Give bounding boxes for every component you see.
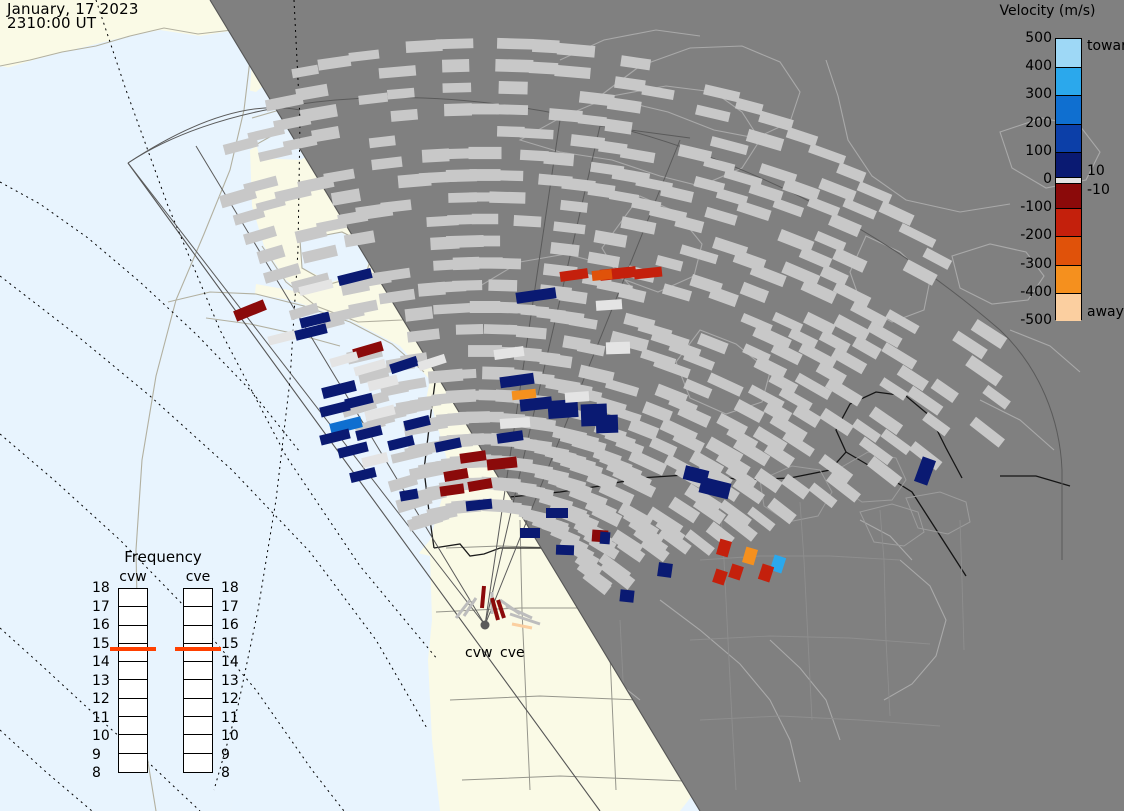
frequency-marker-cve — [175, 647, 221, 651]
colorbar-tick-label: 400 — [992, 58, 1052, 74]
frequency-scale-box — [183, 588, 213, 773]
ground-scatter-cell — [513, 215, 541, 227]
velocity-cell — [592, 269, 613, 281]
frequency-tick-label: 18 — [221, 580, 239, 596]
velocity-cell — [565, 391, 590, 403]
frequency-column-label: cve — [174, 569, 222, 585]
frequency-scale-tick-row — [119, 717, 147, 735]
ground-scatter-cell — [468, 147, 501, 159]
velocity-cell — [619, 589, 634, 602]
ground-scatter-cell — [497, 38, 534, 50]
ground-scatter-cell — [436, 38, 474, 49]
colorbar-segment — [1056, 236, 1081, 264]
frequency-scale-box — [118, 588, 148, 773]
ground-scatter-cell — [495, 59, 533, 73]
colorbar-tick-label: -400 — [992, 284, 1052, 300]
colorbar-tick-label: 200 — [992, 115, 1052, 131]
velocity-cell — [556, 545, 574, 556]
frequency-tick-label: 9 — [221, 747, 230, 763]
frequency-tick-label: 12 — [92, 691, 110, 707]
frequency-tick-label: 8 — [92, 765, 101, 781]
radar-site-label-cve: cve — [500, 645, 525, 661]
frequency-marker-cvw — [110, 647, 156, 651]
frequency-scale-tick-row — [184, 680, 212, 698]
ground-scatter-cell — [444, 103, 472, 116]
radar-site-label-cvw: cvw — [465, 645, 492, 661]
frequency-tick-label: 9 — [92, 747, 101, 763]
frequency-tick-label: 18 — [92, 580, 110, 596]
velocity-cell — [520, 528, 540, 538]
frequency-scale-tick-row — [184, 626, 212, 644]
frequency-tick-label: 15 — [221, 636, 239, 652]
frequency-scale-tick-row — [119, 680, 147, 698]
frequency-scale-tick-row — [119, 699, 147, 717]
ground-scatter-cell — [532, 39, 560, 53]
colorbar-neg-threshold-label: -10 — [1087, 182, 1110, 198]
frequency-scale-tick-row — [184, 735, 212, 753]
frequency-tick-label: 10 — [92, 728, 110, 744]
colorbar-segment — [1056, 293, 1081, 321]
colorbar-segment — [1056, 67, 1081, 95]
colorbar-tick-label: 100 — [992, 143, 1052, 159]
frequency-tick-label: 16 — [221, 617, 239, 633]
frequency-scale-tick-row — [119, 589, 147, 607]
ground-scatter-cell — [456, 324, 483, 335]
colorbar-tick-label: -100 — [992, 199, 1052, 215]
frequency-tick-label: 10 — [221, 728, 239, 744]
frequency-scale-tick-row — [119, 754, 147, 772]
colorbar-toward-label: toward — [1087, 38, 1124, 54]
radar-map-plot: January, 17 2023 2310:00 UT Velocity (m/… — [0, 0, 1124, 811]
colorbar-tick-label: -500 — [992, 312, 1052, 328]
velocity-cell — [596, 415, 619, 434]
radar-site-marker — [481, 621, 490, 630]
colorbar-segment — [1056, 95, 1081, 123]
frequency-tick-label: 14 — [92, 654, 110, 670]
colorbar-title: Velocity (m/s) — [975, 3, 1120, 19]
colorbar-away-label: away — [1087, 304, 1124, 320]
frequency-scale-tick-row — [184, 717, 212, 735]
plot-time-label: 2310:00 UT — [7, 16, 96, 31]
ground-scatter-cell — [529, 62, 559, 75]
frequency-scale-tick-row — [119, 626, 147, 644]
colorbar-tick-label: -200 — [992, 227, 1052, 243]
ground-scatter-cell — [472, 214, 498, 225]
frequency-title: Frequency — [88, 548, 238, 566]
colorbar-pos-threshold-label: 10 — [1087, 163, 1105, 179]
frequency-tick-label: 11 — [92, 710, 110, 726]
frequency-column-label: cvw — [109, 569, 157, 585]
colorbar-segment — [1056, 265, 1081, 293]
frequency-scale-tick-row — [184, 699, 212, 717]
frequency-scale-tick-row — [184, 754, 212, 772]
velocity-cell — [600, 532, 611, 545]
frequency-legend: Frequency cvw18171615141312111098cve1817… — [88, 548, 238, 793]
ground-scatter-cell — [452, 280, 482, 291]
velocity-cell — [606, 342, 630, 355]
frequency-scale-tick-row — [119, 735, 147, 753]
ground-scatter-cell — [470, 236, 500, 247]
frequency-tick-label: 16 — [92, 617, 110, 633]
ground-scatter-cell — [471, 104, 499, 115]
colorbar-segment — [1056, 208, 1081, 236]
frequency-tick-label: 8 — [221, 765, 230, 781]
colorbar-tick-label: 300 — [992, 86, 1052, 102]
velocity-colorbar: Velocity (m/s) 5004003002001000-100-200-… — [975, 0, 1124, 340]
ground-scatter-cell — [496, 104, 528, 115]
colorbar-tick-label: 0 — [992, 171, 1052, 187]
frequency-tick-label: 13 — [92, 673, 110, 689]
ground-scatter-cell — [442, 59, 469, 73]
frequency-scale-tick-row — [184, 589, 212, 607]
ground-scatter-cell — [543, 151, 574, 166]
velocity-cell — [500, 417, 531, 429]
velocity-cell — [546, 508, 568, 518]
colorbar-segment — [1056, 152, 1081, 177]
frequency-tick-label: 14 — [221, 654, 239, 670]
frequency-scale-tick-row — [119, 662, 147, 680]
ground-scatter-cell — [487, 258, 521, 270]
ground-scatter-cell — [520, 128, 554, 139]
frequency-tick-label: 13 — [221, 673, 239, 689]
colorbar-segment — [1056, 39, 1081, 67]
frequency-tick-label: 15 — [92, 636, 110, 652]
frequency-tick-label: 12 — [221, 691, 239, 707]
ground-scatter-cell — [422, 148, 450, 162]
ground-scatter-cell — [494, 170, 524, 181]
frequency-tick-label: 17 — [221, 599, 239, 615]
frequency-column-cve: cve — [183, 588, 213, 773]
velocity-cell — [657, 562, 673, 578]
ground-scatter-cell — [488, 279, 517, 291]
colorbar-gradient — [1055, 38, 1082, 320]
ground-scatter-cell — [484, 324, 517, 335]
velocity-cell — [596, 299, 623, 311]
frequency-column-cvw: cvw — [118, 588, 148, 773]
frequency-scale-tick-row — [184, 662, 212, 680]
ground-scatter-cell — [442, 83, 471, 93]
frequency-scale-tick-row — [184, 607, 212, 625]
ground-scatter-cell — [489, 191, 525, 203]
colorbar-tick-label: 500 — [992, 30, 1052, 46]
colorbar-segment — [1056, 183, 1081, 208]
frequency-tick-label: 11 — [221, 710, 239, 726]
ground-scatter-cell — [498, 81, 527, 95]
frequency-tick-label: 17 — [92, 599, 110, 615]
colorbar-tick-label: -300 — [992, 256, 1052, 272]
frequency-scale-tick-row — [119, 607, 147, 625]
colorbar-segment — [1056, 124, 1081, 152]
